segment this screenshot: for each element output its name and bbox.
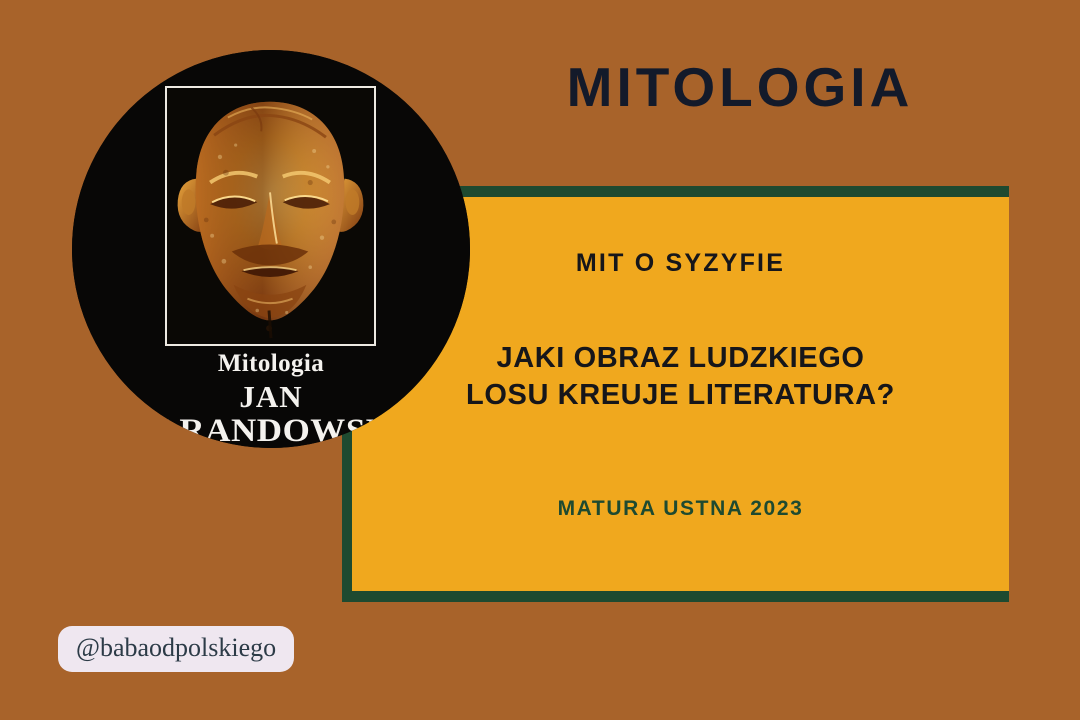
book-author-last-name: PARANDOWSKI <box>72 413 470 448</box>
book-cover-texts: Mitologia JAN PARANDOWSKI <box>72 350 470 448</box>
golden-funeral-mask-icon <box>167 88 374 344</box>
artwork-frame <box>165 86 376 346</box>
card-exam-label: MATURA USTNA 2023 <box>352 497 1009 521</box>
book-cover-title: Mitologia <box>72 350 470 378</box>
social-handle-badge: @babaodpolskiego <box>58 626 294 672</box>
book-cover-circle: Mitologia JAN PARANDOWSKI <box>72 50 470 448</box>
book-author-first-name: JAN <box>72 379 470 415</box>
page-title: MITOLOGIA <box>470 60 1010 115</box>
poster-canvas: { "header": { "title": "MITOLOGIA" }, "c… <box>0 0 1080 720</box>
book-cover: Mitologia JAN PARANDOWSKI <box>72 50 470 448</box>
